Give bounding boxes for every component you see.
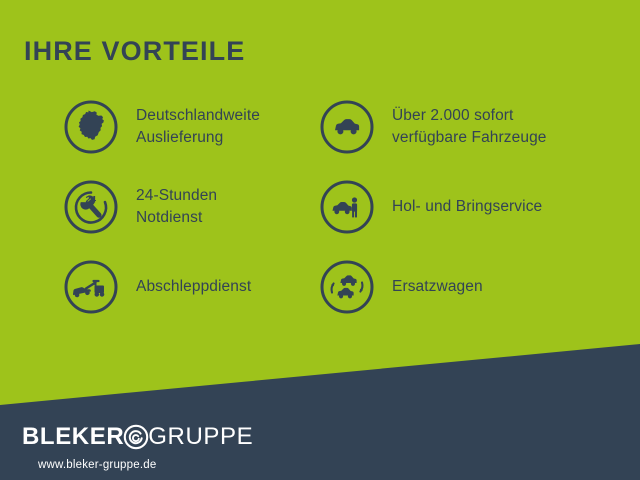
benefits-right-column: Über 2.000 sofort verfügbare Fahrzeuge — [318, 96, 547, 336]
benefits-left-column: Deutschlandweite Auslieferung 24 24-Stun… — [62, 96, 260, 336]
slide-canvas: IHRE VORTEILE Deutschlandweite Ausliefer… — [0, 0, 640, 480]
benefit-item-ersatzwagen: Ersatzwagen — [318, 256, 547, 318]
germany-map-icon — [62, 98, 120, 156]
benefit-label: Abschleppdienst — [136, 276, 251, 298]
benefit-label: Über 2.000 sofort verfügbare Fahrzeuge — [392, 105, 547, 150]
benefit-label: 24-Stunden Notdienst — [136, 185, 217, 230]
benefit-item-verfuegbare-fahrzeuge: Über 2.000 sofort verfügbare Fahrzeuge — [318, 96, 547, 158]
benefit-item-24-stunden-notdienst: 24 24-Stunden Notdienst — [62, 176, 260, 238]
24-hour-wrench-icon: 24 — [62, 178, 120, 236]
two-cars-exchange-icon — [318, 258, 376, 316]
page-title: IHRE VORTEILE — [24, 38, 245, 65]
benefit-label: Hol- und Bringservice — [392, 196, 542, 218]
logo-primary-text: BLEKER — [22, 425, 124, 449]
benefit-label: Ersatzwagen — [392, 276, 483, 298]
car-icon — [318, 98, 376, 156]
benefit-item-abschleppdienst: Abschleppdienst — [62, 256, 260, 318]
benefit-item-deutschlandweite-auslieferung: Deutschlandweite Auslieferung — [62, 96, 260, 158]
spiral-circle-icon — [123, 424, 149, 450]
website-url: www.bleker-gruppe.de — [38, 459, 156, 471]
tow-truck-icon — [62, 258, 120, 316]
company-logo: BLEKER GRUPPE — [22, 424, 253, 450]
logo-secondary-text: GRUPPE — [148, 425, 253, 449]
car-with-person-icon — [318, 178, 376, 236]
benefit-label: Deutschlandweite Auslieferung — [136, 105, 260, 150]
benefit-item-hol-und-bringservice: Hol- und Bringservice — [318, 176, 547, 238]
